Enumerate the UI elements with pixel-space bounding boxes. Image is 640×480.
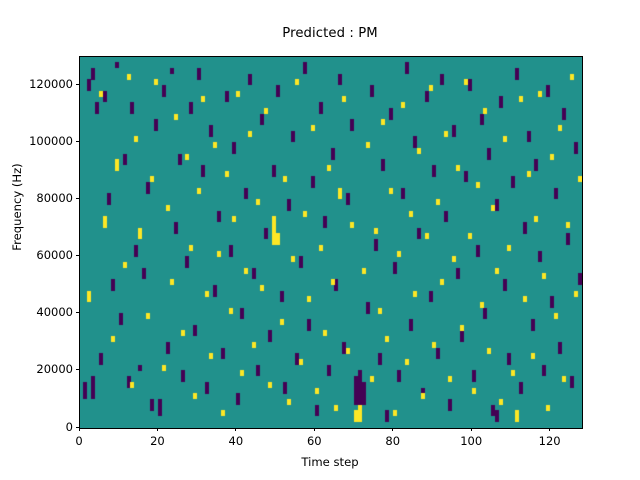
y-axis-label: Frequency (Hz) bbox=[10, 107, 24, 307]
x-tick-label: 0 bbox=[49, 434, 109, 448]
x-tick-label: 80 bbox=[363, 434, 423, 448]
heatmap-plot-area bbox=[79, 56, 583, 429]
x-tick-label: 40 bbox=[206, 434, 266, 448]
y-tick-label: 40000 bbox=[36, 305, 73, 319]
x-tick-label: 100 bbox=[441, 434, 501, 448]
y-tick-label: 120000 bbox=[29, 77, 73, 91]
y-tick-label: 0 bbox=[66, 420, 73, 434]
y-tick-label: 80000 bbox=[36, 191, 73, 205]
page-title: Predicted : PM bbox=[79, 26, 581, 41]
x-axis-label: Time step bbox=[79, 455, 581, 469]
x-tick-label: 20 bbox=[127, 434, 187, 448]
matplotlib-figure: Predicted : PM Frequency (Hz) Time step … bbox=[0, 0, 640, 480]
heatmap-canvas bbox=[80, 57, 582, 428]
y-tick-label: 60000 bbox=[36, 248, 73, 262]
y-tick-label: 20000 bbox=[36, 362, 73, 376]
x-tick-label: 120 bbox=[520, 434, 580, 448]
x-tick-label: 60 bbox=[284, 434, 344, 448]
y-tick-label: 100000 bbox=[29, 134, 73, 148]
